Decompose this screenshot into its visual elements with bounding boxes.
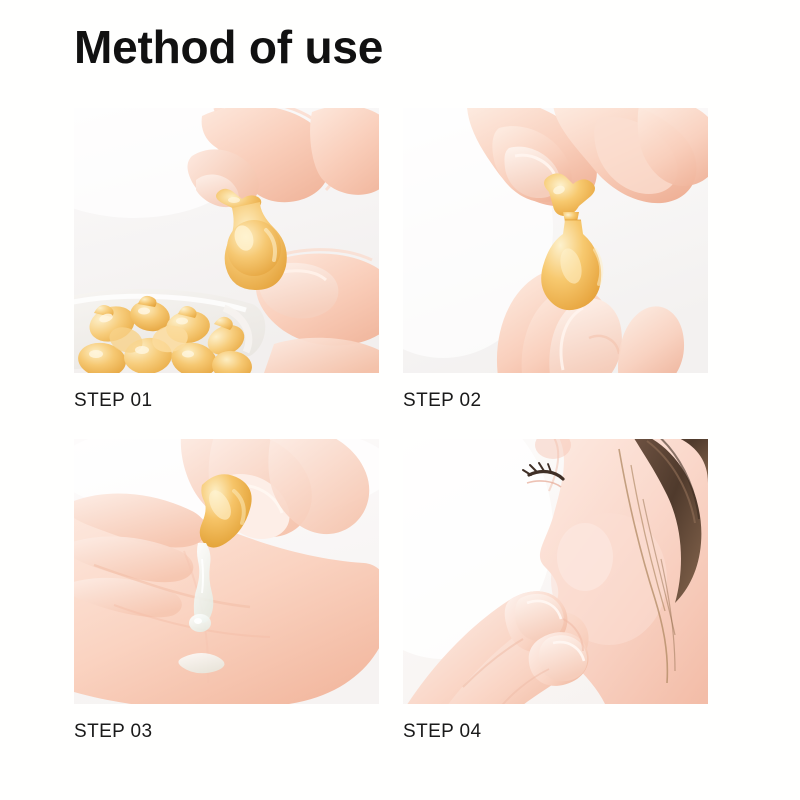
step-cell-02: STEP 02 bbox=[403, 108, 708, 415]
page-title: Method of use bbox=[74, 22, 383, 74]
step-label-01: STEP 01 bbox=[74, 391, 379, 415]
step-label-04: STEP 04 bbox=[403, 722, 708, 746]
step-photo-twist-open bbox=[403, 108, 708, 373]
step-photo-squeeze-palm bbox=[74, 439, 379, 704]
step-label-02: STEP 02 bbox=[403, 391, 708, 415]
step-photo-apply-face bbox=[403, 439, 708, 704]
steps-grid: STEP 01 bbox=[74, 108, 708, 746]
step-cell-03: STEP 03 bbox=[74, 439, 379, 746]
step-cell-04: STEP 04 bbox=[403, 439, 708, 746]
step-cell-01: STEP 01 bbox=[74, 108, 379, 415]
step-photo-pick-capsule bbox=[74, 108, 379, 373]
method-of-use-page: Method of use bbox=[0, 0, 800, 800]
step-label-03: STEP 03 bbox=[74, 722, 379, 746]
